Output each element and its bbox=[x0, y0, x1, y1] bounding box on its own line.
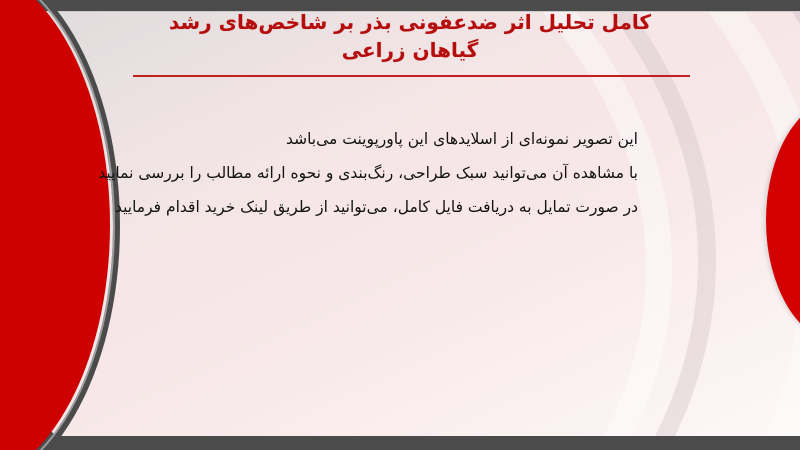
title-line-1: کامل تحلیل اثر ضدعفونی بذر بر شاخص‌های ر… bbox=[120, 8, 700, 36]
title-line-2: گیاهان زراعی bbox=[120, 36, 700, 64]
body-line-2: با مشاهده آن می‌توانید سبک طراحی، رنگ‌بن… bbox=[118, 156, 638, 190]
body-line-1: این تصویر نمونه‌ای از اسلایدهای این پاور… bbox=[118, 122, 638, 156]
slide-canvas: کامل تحلیل اثر ضدعفونی بذر بر شاخص‌های ر… bbox=[0, 0, 800, 450]
dark-band-bottom-icon bbox=[0, 436, 800, 450]
body-line-3: در صورت تمایل به دریافت فایل کامل، می‌تو… bbox=[118, 190, 638, 224]
body-text: این تصویر نمونه‌ای از اسلایدهای این پاور… bbox=[118, 122, 638, 224]
title-underline bbox=[133, 75, 690, 77]
page-title: کامل تحلیل اثر ضدعفونی بذر بر شاخص‌های ر… bbox=[120, 8, 700, 64]
